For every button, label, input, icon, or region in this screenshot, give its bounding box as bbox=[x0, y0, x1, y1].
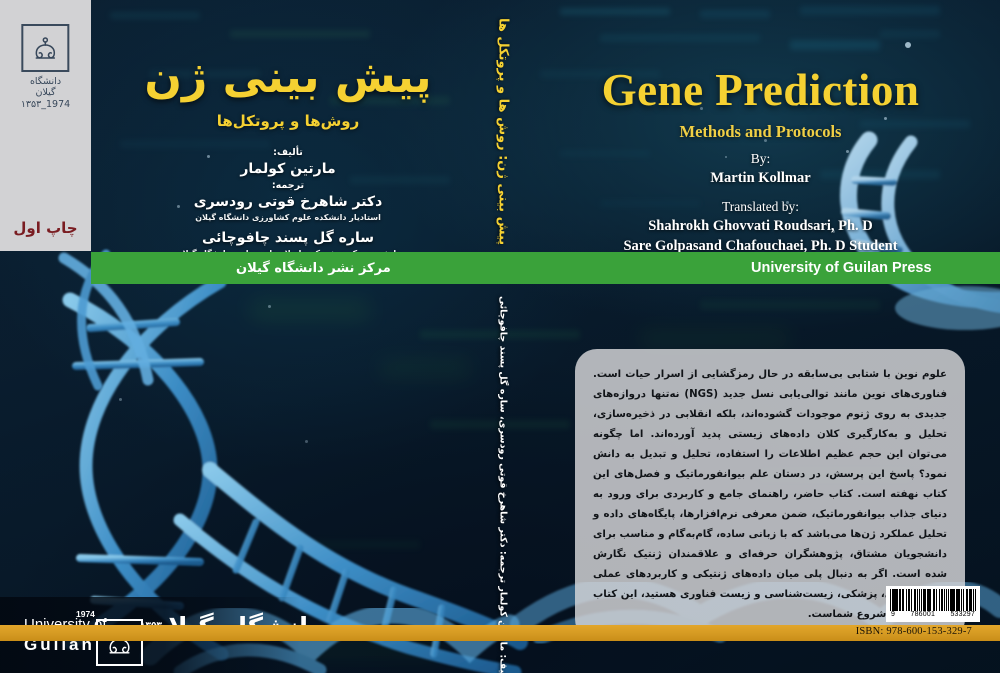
translator-label-fa: ترجمه: bbox=[91, 179, 485, 193]
front-cover-title-en: Gene Prediction bbox=[521, 64, 1000, 116]
flap-university-year: ۱۳۵۳_1974 bbox=[21, 99, 70, 110]
barcode-group-1: 786001 bbox=[910, 611, 935, 618]
publisher-name-en: University of Guilan Press bbox=[751, 260, 932, 276]
front-cover-translator-block: Translated by: Shahrokh Ghovvati Roudsar… bbox=[521, 198, 1000, 256]
spine-credits-fa: تألیف: مارتین کولمار ترجمه: دکتر شاهرخ ق… bbox=[498, 296, 509, 673]
book-cover-canvas: پیش بینی ژن روش‌ها و پروتکل‌ها تألیف: ما… bbox=[0, 0, 1000, 673]
author-name-en: Martin Kollmar bbox=[521, 168, 1000, 188]
flap-university-logo: دانشگاه گیلان ۱۳۵۳_1974 bbox=[21, 24, 70, 110]
barcode-digits: 9 786001 533297 bbox=[890, 611, 976, 618]
back-cover-subtitle-fa: روش‌ها و پروتکل‌ها bbox=[91, 112, 485, 130]
publisher-name-fa: مرکز نشر دانشگاه گیلان bbox=[236, 261, 391, 276]
isbn-band: ISBN: 978-600-153-329-7 bbox=[0, 625, 1000, 641]
translated-by-label: Translated by: bbox=[521, 198, 1000, 216]
barcode-group-2: 533297 bbox=[950, 611, 975, 618]
university-year-en: 1974 bbox=[76, 604, 95, 624]
cover-flap-panel: دانشگاه گیلان ۱۳۵۳_1974 چاپ اول bbox=[0, 0, 91, 251]
spine-panel: پیش بینی ژن: روش ها و پروتکل ها تألیف: م… bbox=[485, 0, 521, 673]
isbn-barcode: 9 786001 533297 bbox=[886, 586, 980, 622]
flap-university-name-fa: دانشگاه گیلان bbox=[21, 76, 70, 98]
front-cover-author-block: By: Martin Kollmar bbox=[521, 150, 1000, 188]
back-cover-credits-fa: تألیف: مارتین کولمار ترجمه: دکتر شاهرخ ق… bbox=[91, 146, 485, 260]
author-label-fa: تألیف: bbox=[91, 146, 485, 160]
translator-1-affiliation-fa: استادیار دانشکده علوم کشاورزی دانشگاه گی… bbox=[91, 212, 485, 224]
guilan-university-emblem-icon bbox=[22, 24, 70, 72]
back-cover-panel: پیش بینی ژن روش‌ها و پروتکل‌ها تألیف: ما… bbox=[91, 0, 485, 673]
by-label: By: bbox=[521, 150, 1000, 168]
translator-1-name-en: Shahrokh Ghovvati Roudsari, Ph. D bbox=[521, 216, 1000, 236]
translator-1-name-fa: دکتر شاهرخ قوتی رودسری bbox=[91, 193, 485, 212]
translator-2-name-fa: ساره گل پسند چافوچائی bbox=[91, 229, 485, 248]
publisher-band: مرکز نشر دانشگاه گیلان University of Gui… bbox=[91, 252, 1000, 284]
barcode-bars bbox=[890, 589, 976, 611]
spine-title-fa: پیش بینی ژن: روش ها و پروتکل ها bbox=[496, 18, 511, 245]
front-cover-panel: Gene Prediction Methods and Protocols By… bbox=[521, 0, 1000, 673]
isbn-text: ISBN: 978-600-153-329-7 bbox=[856, 626, 972, 637]
back-cover-title-fa: پیش بینی ژن bbox=[91, 52, 485, 103]
barcode-left-digit: 9 bbox=[891, 611, 895, 618]
edition-label-fa: چاپ اول bbox=[0, 219, 91, 237]
author-name-fa: مارتین کولمار bbox=[91, 160, 485, 179]
front-cover-subtitle-en: Methods and Protocols bbox=[521, 122, 1000, 142]
